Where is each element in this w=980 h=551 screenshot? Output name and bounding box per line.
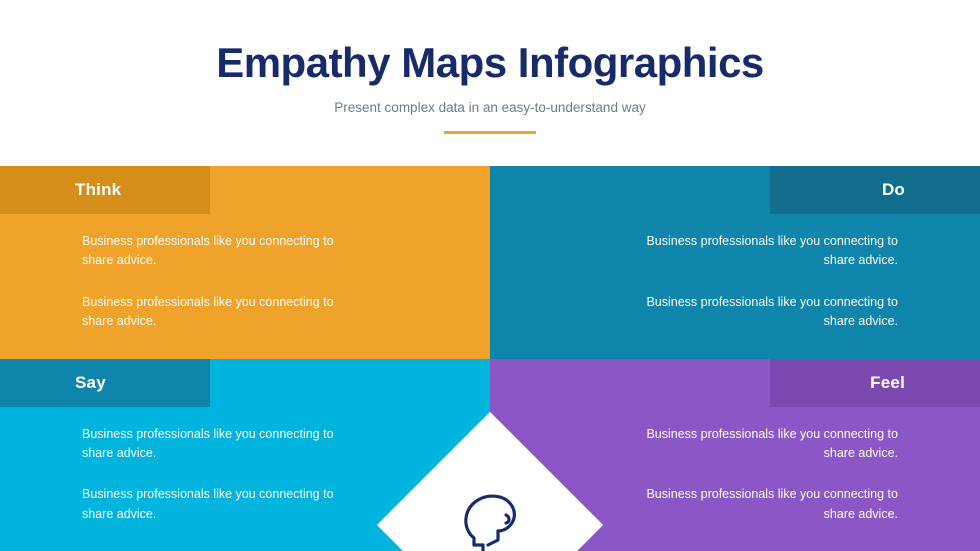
quadrant-label-do: Do <box>770 166 980 214</box>
quadrant-say-paragraph-2: Business professionals like you connecti… <box>82 485 367 524</box>
quadrant-do-paragraph-1: Business professionals like you connecti… <box>613 232 898 271</box>
quadrant-feel-paragraph-1: Business professionals like you connecti… <box>613 425 898 464</box>
quadrant-label-say-text: Say <box>75 373 106 393</box>
page-subtitle: Present complex data in an easy-to-under… <box>0 100 980 115</box>
quadrant-say-paragraph-1: Business professionals like you connecti… <box>82 425 367 464</box>
quadrant-feel-paragraph-2: Business professionals like you connecti… <box>613 485 898 524</box>
quadrant-think-paragraph-2: Business professionals like you connecti… <box>82 293 367 332</box>
quadrant-body-feel: Business professionals like you connecti… <box>613 425 898 525</box>
quadrant-think[interactable]: Think Business professionals like you co… <box>0 166 490 359</box>
quadrant-do-paragraph-2: Business professionals like you connecti… <box>613 293 898 332</box>
quadrant-body-think: Business professionals like you connecti… <box>82 232 367 332</box>
quadrant-body-say: Business professionals like you connecti… <box>82 425 367 525</box>
quadrant-body-do: Business professionals like you connecti… <box>613 232 898 332</box>
quadrant-do[interactable]: Do Business professionals like you conne… <box>490 166 980 359</box>
page-title: Empathy Maps Infographics <box>0 40 980 86</box>
title-underline-rule <box>444 131 536 134</box>
header: Empathy Maps Infographics Present comple… <box>0 0 980 166</box>
quadrant-think-paragraph-1: Business professionals like you connecti… <box>82 232 367 271</box>
quadrant-label-think-text: Think <box>75 180 121 200</box>
quadrant-label-feel: Feel <box>770 359 980 407</box>
quadrant-label-feel-text: Feel <box>870 373 905 393</box>
head-profile-icon <box>450 485 530 551</box>
empathy-map-grid: Think Business professionals like you co… <box>0 166 980 551</box>
quadrant-label-think: Think <box>0 166 210 214</box>
quadrant-label-do-text: Do <box>882 180 905 200</box>
quadrant-label-say: Say <box>0 359 210 407</box>
